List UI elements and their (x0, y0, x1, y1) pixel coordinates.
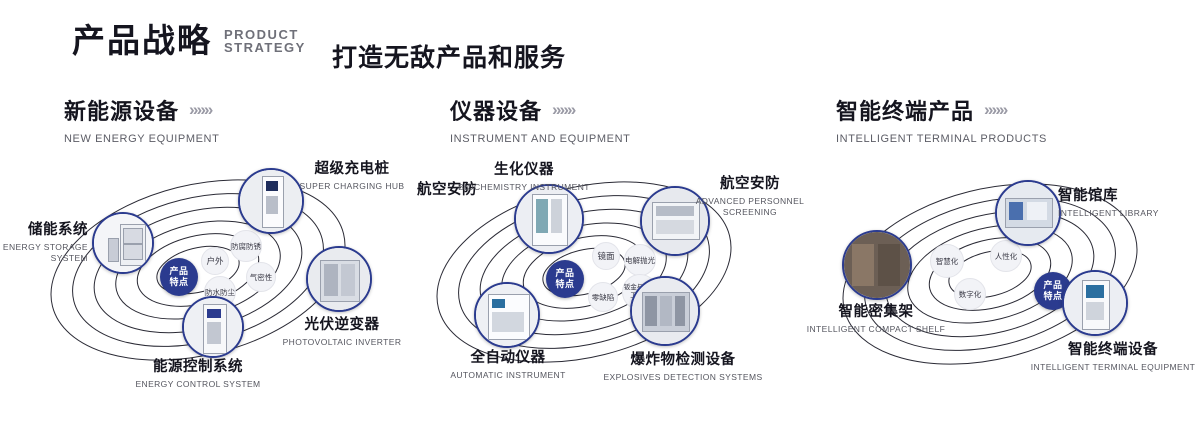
keyword-bubble-1: 智慧化 (930, 244, 964, 278)
center-badge-product-features: 产品 特点 (546, 260, 584, 298)
section-title-en: NEW ENERGY EQUIPMENT (64, 133, 219, 145)
node-photovoltaic-inverter[interactable] (306, 246, 372, 312)
node-intelligent-compact-shelf[interactable] (842, 230, 912, 300)
diagram-intelligent-terminal: 产品 特点 智慧化 人性化 数字化 智能馆库 INTELLIGENT LIBRA… (790, 150, 1190, 410)
chevron-right-icon: »»» (552, 100, 574, 120)
label-energy-storage-system: 储能系统 ENERGY STORAGE SYSTEM (0, 218, 88, 263)
section-title-en: INTELLIGENT TERMINAL PRODUCTS (836, 133, 1047, 145)
node-intelligent-terminal-equipment[interactable] (1062, 270, 1128, 336)
node-intelligent-library[interactable] (995, 180, 1061, 246)
keyword-bubble-3: 数字化 (954, 278, 986, 310)
keyword-bubble-1: 户外 (201, 247, 229, 275)
keyword-bubble-2: 防腐防锈 (230, 230, 262, 262)
page-header: 产品战略 PRODUCT STRATEGY (72, 24, 306, 57)
page-title-en-line2: STRATEGY (224, 41, 306, 55)
label-intelligent-library: 智能馆库 INTELLIGENT LIBRARY (1058, 184, 1188, 219)
label-energy-control-system: 能源控制系统 ENERGY CONTROL SYSTEM (98, 355, 298, 390)
center-badge-product-features: 产品 特点 (160, 258, 198, 296)
keyword-bubble-1: 镜面 (592, 242, 620, 270)
section-title-cn: 智能终端产品 (836, 94, 974, 126)
section-title-new-energy: 新能源设备 »»» NEW ENERGY EQUIPMENT (64, 94, 219, 145)
label-photovoltaic-inverter: 光伏逆变器 PHOTOVOLTAIC INVERTER (282, 313, 402, 348)
section-title-cn: 仪器设备 (450, 94, 542, 126)
page-title-en: PRODUCT STRATEGY (224, 28, 306, 55)
keyword-bubble-4: 气密性 (246, 262, 276, 292)
section-title-en: INSTRUMENT AND EQUIPMENT (450, 133, 630, 145)
section-title-cn: 新能源设备 (64, 94, 179, 126)
node-explosives-detection-systems[interactable] (630, 276, 700, 346)
label-intelligent-terminal-equipment: 智能终端设备 INTELLIGENT TERMINAL EQUIPMENT (1018, 338, 1200, 373)
chevron-right-icon: »»» (984, 100, 1006, 120)
keyword-bubble-4: 零缺陷 (588, 282, 618, 312)
node-energy-control-system[interactable] (182, 296, 244, 358)
page-title-cn: 产品战略 (72, 24, 212, 57)
label-explosives-detection-systems: 爆炸物检测设备 EXPLOSIVES DETECTION SYSTEMS (588, 348, 778, 383)
page-title-en-line1: PRODUCT (224, 28, 306, 42)
section-title-instrument: 仪器设备 »»» INSTRUMENT AND EQUIPMENT (450, 94, 630, 145)
node-energy-storage-system[interactable] (92, 212, 154, 274)
diagram-instrument: 产品 特点 镜面 电解抛光 钣金与机加工结合 零缺陷 航空安防 生化仪器 BIO… (392, 150, 792, 410)
keyword-bubble-2: 人性化 (990, 240, 1022, 272)
label-intelligent-compact-shelf: 智能密集架 INTELLIGENT COMPACT SHELF (800, 300, 952, 335)
section-title-intelligent-terminal: 智能终端产品 »»» INTELLIGENT TERMINAL PRODUCTS (836, 94, 1047, 145)
node-automatic-instrument[interactable] (474, 282, 540, 348)
label-biochemistry-instrument: 生化仪器 BIOCHEMISTRY INSTRUMENT (454, 158, 594, 193)
chevron-right-icon: »»» (189, 100, 211, 120)
diagram-new-energy: 产品 特点 户外 防腐防锈 防水防尘 气密性 储能系统 ENERGY STORA… (0, 150, 400, 410)
node-biochemistry-instrument[interactable] (514, 184, 584, 254)
label-automatic-instrument: 全自动仪器 AUTOMATIC INSTRUMENT (424, 346, 592, 381)
page-subtitle: 打造无敌产品和服务 (332, 38, 566, 74)
